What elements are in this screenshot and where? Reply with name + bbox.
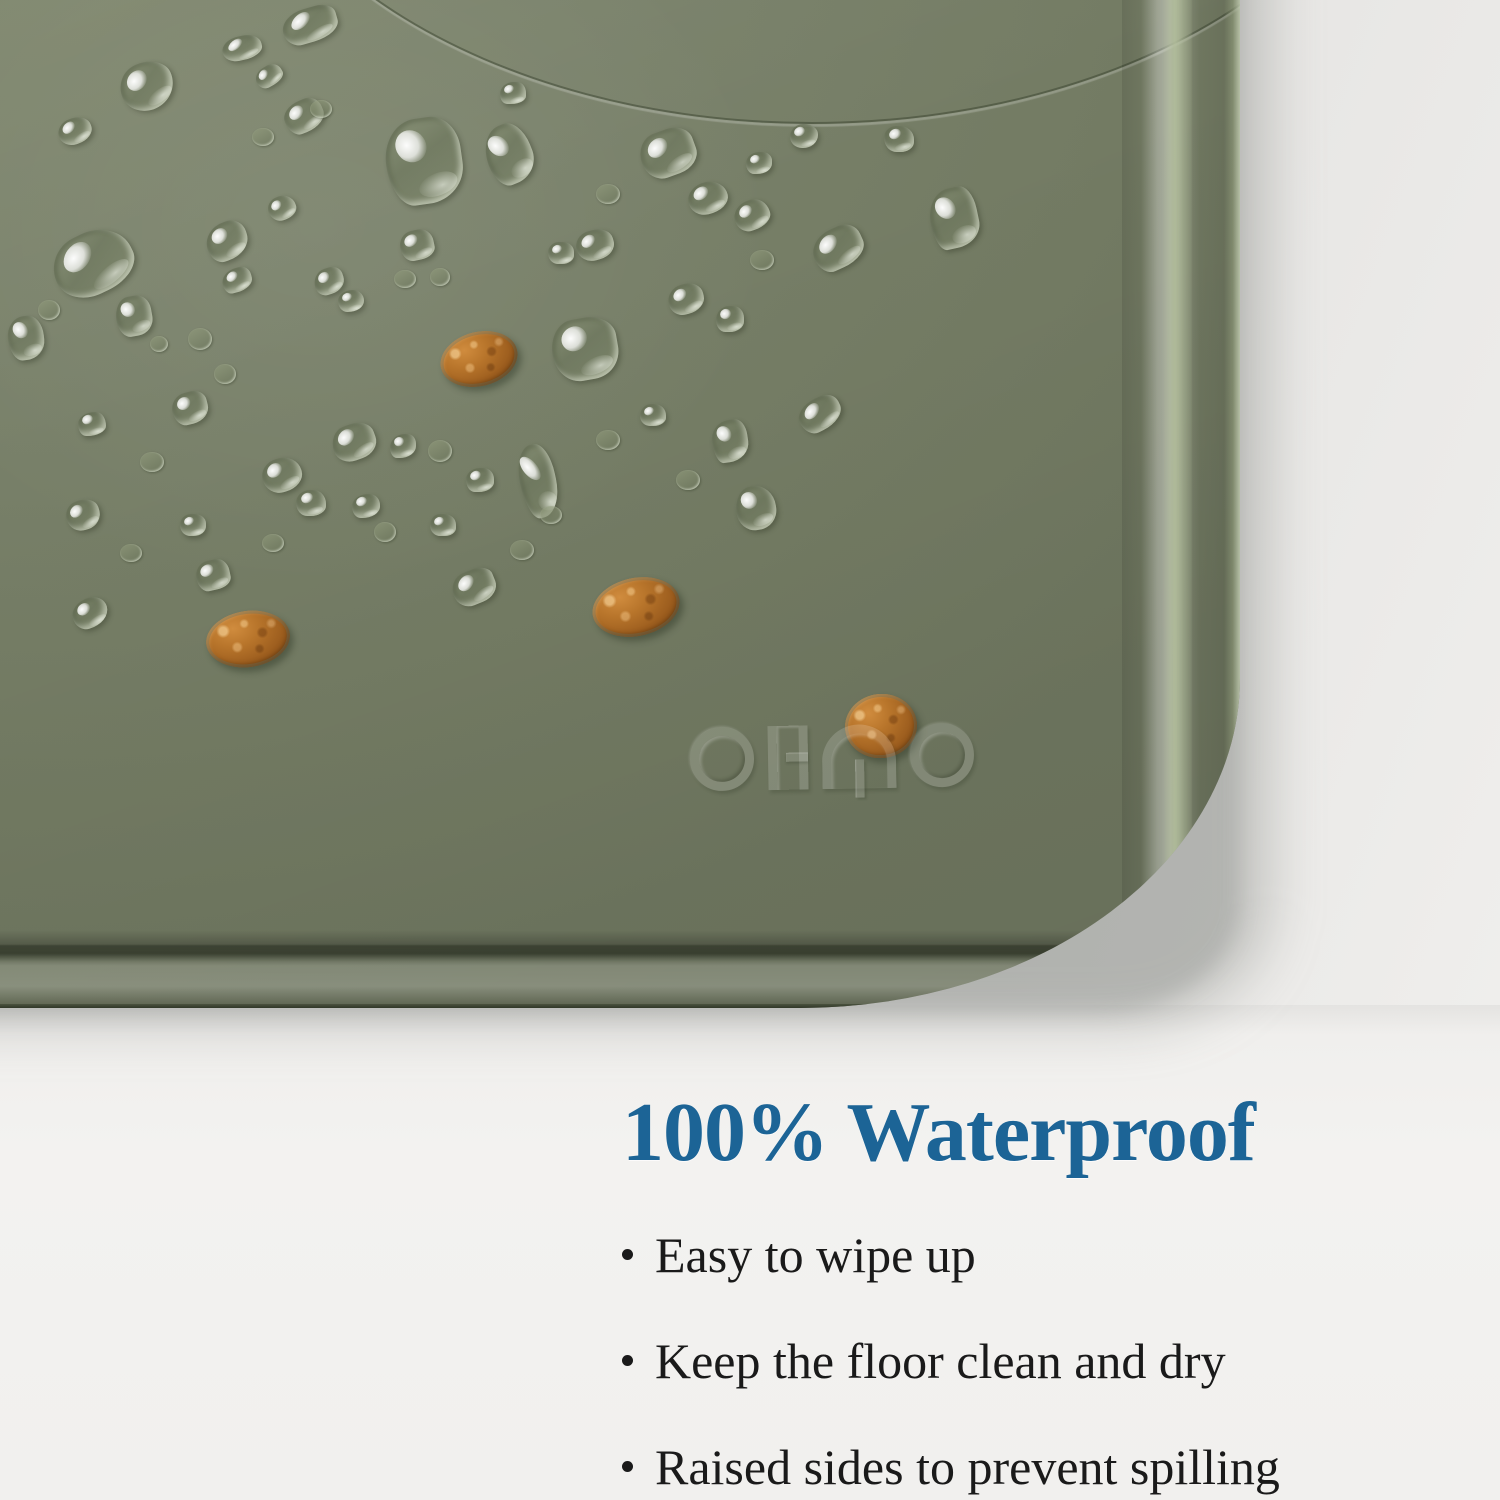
water-droplet [394,270,416,288]
mat-rim-highlight-right [1162,0,1192,930]
silicone-pet-feeding-mat [0,0,1240,1008]
feature-bullet-list: Easy to wipe up Keep the floor clean and… [622,1230,1452,1492]
water-droplet [214,364,236,384]
water-droplet [430,514,456,536]
product-marketing-image: 100% Waterproof Easy to wipe up Keep the… [0,0,1500,1500]
water-droplet [510,540,534,560]
bullet-dot-icon [622,1249,633,1260]
water-droplet [140,452,164,472]
water-droplet [428,440,452,462]
water-droplet [548,242,574,264]
kibble-left [203,605,294,672]
water-droplet [676,470,700,490]
list-item: Keep the floor clean and dry [622,1336,1452,1386]
bullet-label: Raised sides to prevent spilling [655,1442,1280,1492]
ohmo-embossed-logo [689,723,974,792]
water-droplet [252,128,274,146]
logo-letter-o-right [909,723,974,788]
water-droplet [374,522,396,542]
mat-surface-shading [0,0,1240,1008]
page-title: 100% Waterproof [622,1090,1452,1176]
water-droplet [188,328,212,350]
water-droplet [120,544,142,562]
water-droplet [262,534,284,552]
water-droplet [38,300,60,320]
water-droplet [596,184,620,204]
bullet-label: Easy to wipe up [655,1230,976,1280]
water-droplet [466,468,494,492]
water-droplet [716,306,744,332]
mat-bottom-edge-line [0,1004,1160,1008]
bullet-dot-icon [622,1461,633,1472]
water-droplet [180,514,206,536]
water-droplet [640,404,666,426]
water-droplet [750,250,774,270]
water-droplet [430,268,450,286]
water-droplet [296,490,326,516]
marketing-copy-block: 100% Waterproof Easy to wipe up Keep the… [622,1090,1452,1492]
logo-letter-m [821,724,896,789]
list-item: Easy to wipe up [622,1230,1452,1280]
water-droplet [338,290,364,312]
water-droplet [150,336,168,352]
mat-rim-edge-right [1224,0,1240,930]
water-droplet [500,82,526,104]
logo-letter-o-left [689,726,754,791]
water-droplet [596,430,620,450]
bullet-label: Keep the floor clean and dry [655,1336,1226,1386]
water-droplet [310,100,332,118]
water-droplet [746,152,772,174]
logo-letter-h [767,725,808,790]
list-item: Raised sides to prevent spilling [622,1442,1452,1492]
water-droplet [540,506,562,524]
bullet-dot-icon [622,1355,633,1366]
water-droplet [884,126,914,152]
mat-raised-rim-bottom [0,930,1160,1008]
